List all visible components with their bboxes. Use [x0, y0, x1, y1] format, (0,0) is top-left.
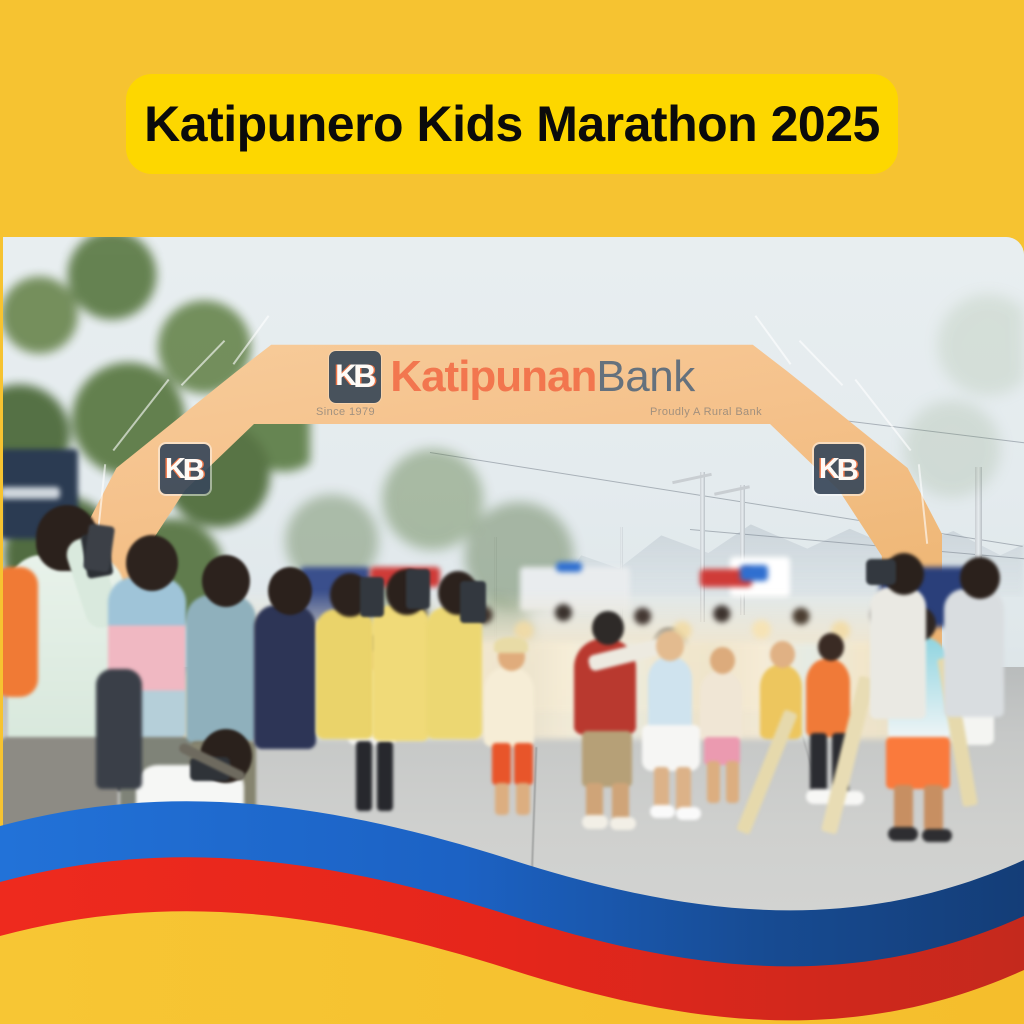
- volunteer-shoe: [922, 829, 952, 842]
- spectator-head: [268, 567, 312, 615]
- spectator-torso: [96, 669, 142, 789]
- bank-taglines: Since 1979 Proudly A Rural Bank: [254, 403, 770, 418]
- spectator-torso: [254, 605, 316, 749]
- footer-fill: [0, 932, 1024, 1024]
- title-pill: Katipunero Kids Marathon 2025: [126, 74, 898, 174]
- spectator-head: [126, 535, 178, 591]
- runner-cap: [494, 637, 528, 653]
- arch-banner: K B Katipunan Bank Since 1979 Proudly A …: [254, 345, 770, 424]
- scaffold-rail: [0, 487, 60, 499]
- runner-skirt: [642, 725, 700, 771]
- arch-seam: [799, 340, 844, 386]
- tagline-since: Since 1979: [316, 406, 375, 418]
- runner-legs: [377, 741, 393, 811]
- runner-figure: [700, 671, 742, 741]
- spectator-head: [202, 555, 250, 607]
- runner-legs: [726, 761, 739, 803]
- spectator-head: [960, 557, 1000, 599]
- spectator-torso-orange: [0, 567, 38, 697]
- runner-head: [656, 631, 684, 661]
- marshal-shoe: [582, 815, 608, 829]
- photo-left-edge: [0, 237, 3, 937]
- spectator-torso: [944, 589, 1004, 717]
- tagline-rural-bank: Proudly A Rural Bank: [650, 406, 762, 418]
- logo-letter-b: B: [353, 360, 376, 392]
- staff-legs: [810, 733, 827, 795]
- volunteer-legs: [924, 785, 943, 831]
- runner-legs: [492, 743, 511, 785]
- volunteer-shoe: [888, 827, 918, 841]
- smartphone-icon: [360, 577, 384, 617]
- staff-head: [818, 633, 844, 661]
- spectator-torso: [186, 595, 256, 743]
- runner-head: [710, 647, 735, 674]
- arch-logo-badge-left: K B: [160, 444, 210, 494]
- bank-logo-row: K B Katipunan Bank: [329, 351, 694, 403]
- volunteer-torso-yellow: [372, 605, 430, 741]
- runner-legs: [514, 743, 533, 785]
- staff-figure-orange: [806, 659, 850, 737]
- volunteer-shorts: [886, 737, 950, 789]
- logo-letter-b: B: [837, 452, 859, 488]
- page-title: Katipunero Kids Marathon 2025: [144, 99, 880, 149]
- logo-letter-b: B: [183, 452, 205, 488]
- runner-shin: [516, 783, 530, 815]
- smartphone-icon: [460, 581, 486, 623]
- katipunan-bank-logo-icon: K B: [329, 351, 381, 403]
- runner-legs: [676, 767, 691, 811]
- runner-shin: [495, 783, 509, 815]
- runner-legs: [356, 741, 372, 811]
- runner-head: [770, 641, 795, 668]
- arch-seam: [181, 340, 226, 386]
- poster-canvas: K B Katipunan Bank Since 1979 Proudly A …: [0, 0, 1024, 1024]
- brand-primary: Katipunan: [390, 355, 596, 399]
- volunteer-torso-yellow: [316, 609, 374, 739]
- marshal-legs: [612, 783, 629, 821]
- volunteer-torso-yellow: [426, 607, 482, 739]
- runner-shoe: [676, 807, 701, 820]
- marshal-shorts: [582, 731, 632, 787]
- runner-legs: [707, 761, 720, 803]
- spectator-torso: [870, 587, 926, 719]
- marshal-head: [592, 611, 624, 645]
- event-photo: K B Katipunan Bank Since 1979 Proudly A …: [0, 237, 1024, 937]
- arch-logo-badge-right: K B: [814, 444, 864, 494]
- runner-figure: [648, 657, 692, 731]
- photographer-shoe: [186, 889, 238, 909]
- camera-icon: [866, 559, 896, 585]
- runner-shoe: [650, 805, 675, 818]
- smartphone-icon: [406, 569, 430, 609]
- bank-wordmark: Katipunan Bank: [390, 355, 694, 399]
- brand-secondary: Bank: [596, 355, 694, 399]
- marshal-shoe: [610, 817, 636, 830]
- runner-figure: [484, 667, 534, 747]
- volunteer-legs: [894, 785, 913, 831]
